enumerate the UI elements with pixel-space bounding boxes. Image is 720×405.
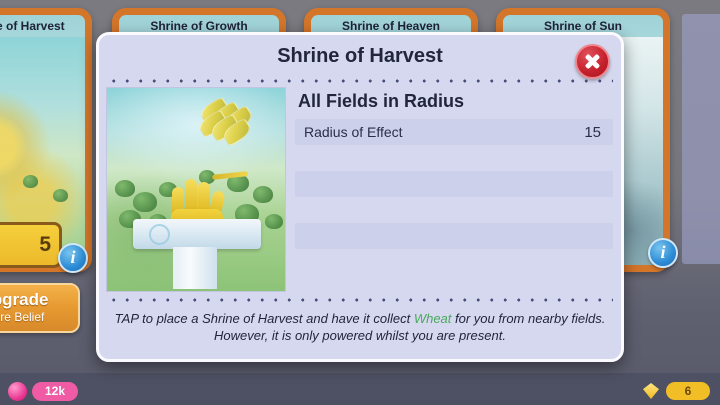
wheat-sheaf-icon	[172, 87, 278, 184]
stat-row-empty	[295, 171, 613, 197]
tree-icon	[253, 186, 273, 203]
stats-heading: All Fields in Radius	[295, 87, 613, 119]
close-icon[interactable]	[575, 44, 610, 79]
belief-amount: 12k	[32, 382, 78, 401]
stat-value: 15	[584, 124, 601, 141]
footer-text-before: TAP to place a Shrine of Harvest and hav…	[115, 311, 414, 326]
tree-icon	[23, 175, 38, 188]
upgrade-button[interactable]: Upgrade More Belief	[0, 283, 80, 333]
stat-row-empty	[295, 145, 613, 171]
tree-icon	[53, 189, 68, 202]
dialog-footer: TAP to place a Shrine of Harvest and hav…	[107, 305, 613, 355]
info-icon[interactable]: i	[58, 243, 88, 273]
stats-panel: All Fields in Radius Radius of Effect 15	[295, 87, 613, 294]
dialog-body: All Fields in Radius Radius of Effect 15	[99, 83, 621, 298]
gem-amount: 6	[666, 382, 710, 400]
upgrade-button-label: Upgrade	[0, 290, 78, 310]
tree-icon	[115, 180, 135, 197]
gem-icon	[643, 383, 659, 399]
shrine-card-1-title: Shrine of Harvest	[0, 19, 85, 33]
pedestal	[133, 219, 261, 289]
stat-row-empty	[295, 249, 613, 275]
footer-text-after: for you from nearby fields.	[451, 311, 605, 326]
stat-row-empty	[295, 223, 613, 249]
game-screen: Shrine of Harvest Shrine of Growth Shrin…	[0, 0, 720, 405]
stat-row-radius-of-effect: Radius of Effect 15	[295, 119, 613, 145]
hud-belief-group[interactable]: 12k	[8, 382, 78, 401]
belief-orb-icon	[8, 382, 27, 401]
stat-label: Radius of Effect	[304, 124, 403, 140]
hud-bar: 12k 6	[0, 373, 720, 405]
shrine-of-harvest-artwork	[106, 87, 286, 292]
tree-icon	[265, 214, 283, 229]
dialog-title: Shrine of Harvest	[99, 45, 621, 68]
pedestal-column	[173, 247, 217, 289]
tree-icon	[133, 192, 157, 212]
shrine-card-2-title: Shrine of Growth	[119, 19, 279, 33]
stat-row-empty	[295, 197, 613, 223]
upgrade-button-sublabel: More Belief	[0, 310, 78, 324]
hud-gem-group[interactable]: 6	[643, 382, 710, 400]
rune-circle-icon	[149, 224, 170, 245]
side-panel[interactable]	[682, 14, 720, 264]
price-tag: 5	[0, 222, 62, 268]
footer-text-line2: However, it is only powered whilst you a…	[214, 328, 506, 343]
divider-bottom	[107, 298, 613, 302]
shrine-card-3-title: Shrine of Heaven	[311, 19, 471, 33]
info-icon[interactable]: i	[648, 238, 678, 268]
footer-highlight-wheat: Wheat	[414, 311, 452, 326]
shrine-detail-dialog: Shrine of Harvest	[96, 32, 624, 362]
shrine-card-4-title: Shrine of Sun	[503, 19, 663, 33]
pedestal-slab	[133, 219, 261, 249]
